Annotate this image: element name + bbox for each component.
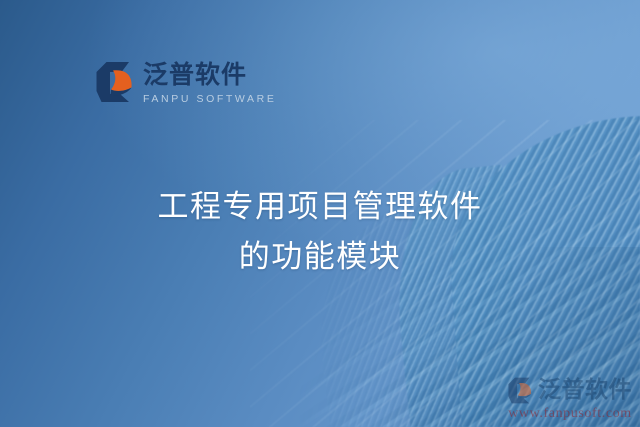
brand-logo: 泛普软件 FANPU SOFTWARE <box>96 60 276 104</box>
brand-text-block: 泛普软件 FANPU SOFTWARE <box>143 60 276 104</box>
slide-title: 工程专用项目管理软件 的功能模块 <box>0 182 640 282</box>
slide-title-line-1: 工程专用项目管理软件 <box>0 182 640 232</box>
slide-title-line-2: 的功能模块 <box>0 232 640 282</box>
presentation-slide: 泛普软件 FANPU SOFTWARE 工程专用项目管理软件 的功能模块 泛普软… <box>0 0 640 427</box>
fanpu-sail-logo-icon <box>96 61 136 103</box>
brand-name-en: FANPU SOFTWARE <box>143 94 276 105</box>
brand-name-cn: 泛普软件 <box>143 62 276 89</box>
